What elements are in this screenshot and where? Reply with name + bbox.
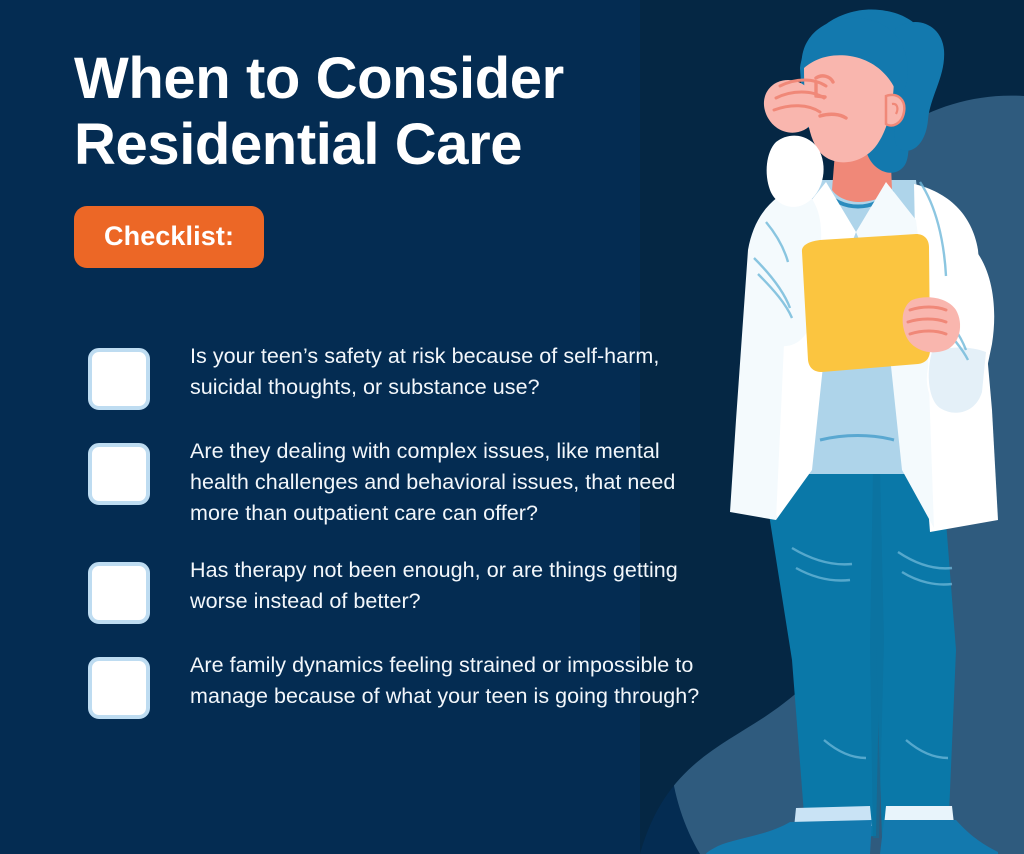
checkbox-icon[interactable] (88, 562, 150, 624)
checkbox-icon[interactable] (88, 443, 150, 505)
trousers (762, 470, 956, 840)
checklist-item-label: Are they dealing with complex issues, li… (190, 435, 718, 529)
checkbox-icon[interactable] (88, 348, 150, 410)
checkbox-icon[interactable] (88, 657, 150, 719)
shoes (706, 806, 998, 854)
checklist-item-label: Has therapy not been enough, or are thin… (190, 554, 718, 617)
checklist-item-4[interactable]: Are family dynamics feeling strained or … (88, 649, 718, 719)
page-title: When to Consider Residential Care (74, 46, 674, 177)
checklist-item-label: Is your teen’s safety at risk because of… (190, 340, 718, 403)
checklist-item-label: Are family dynamics feeling strained or … (190, 649, 718, 712)
header-block: When to Consider Residential Care Checkl… (74, 46, 674, 268)
checklist: Is your teen’s safety at risk because of… (88, 340, 718, 744)
checklist-item-3[interactable]: Has therapy not been enough, or are thin… (88, 554, 718, 624)
ear (886, 95, 904, 126)
checklist-item-1[interactable]: Is your teen’s safety at risk because of… (88, 340, 718, 410)
doctor-illustration (680, 0, 1024, 854)
infographic-canvas: When to Consider Residential Care Checkl… (0, 0, 1024, 854)
checklist-badge: Checklist: (74, 206, 264, 268)
checklist-item-2[interactable]: Are they dealing with complex issues, li… (88, 435, 718, 529)
